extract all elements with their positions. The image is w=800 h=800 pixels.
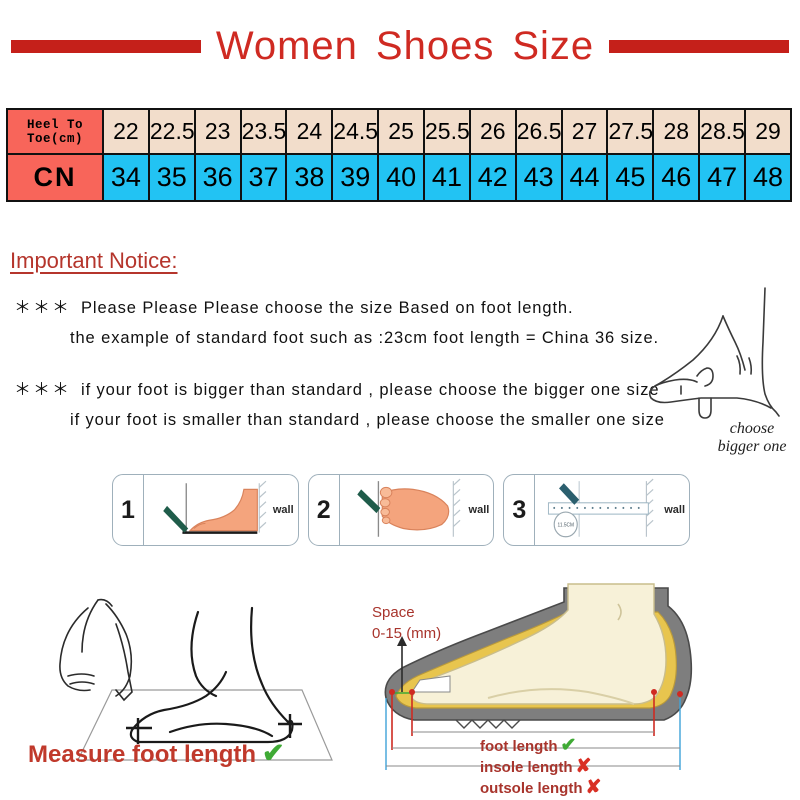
ruler-reading: 11.5CM	[558, 522, 574, 528]
measure-check-icon: ✔	[262, 738, 285, 768]
cell-cn-size-1: 35	[149, 154, 195, 201]
row-header-cn: CN	[7, 154, 103, 201]
cell-heel-to-toe-14: 29	[745, 109, 791, 154]
foot-art-caption-line1: choose	[692, 420, 800, 438]
step-illustration-2: wall	[340, 475, 494, 545]
size-conversion-table: Heel To Toe(cm) 2222.52323.52424.52525.5…	[6, 108, 792, 202]
table-row-heel-to-toe: Heel To Toe(cm) 2222.52323.52424.52525.5…	[7, 109, 791, 154]
step-illustration-1: wall	[144, 475, 298, 545]
measure-caption-text: Measure foot length	[28, 741, 256, 768]
notice-p2-line1: if your foot is bigger than standard , p…	[81, 381, 659, 399]
legend-foot-length-check-icon: ✔	[560, 735, 576, 756]
cell-cn-size-7: 41	[424, 154, 470, 201]
legend-foot-length-label: foot length	[480, 738, 557, 755]
title-text: WomenShoesSize	[201, 24, 609, 69]
cell-heel-to-toe-12: 28	[653, 109, 699, 154]
cell-heel-to-toe-11: 27.5	[607, 109, 653, 154]
cell-heel-to-toe-5: 24.5	[332, 109, 378, 154]
notice-stars-1: ＊＊＊	[14, 298, 71, 317]
step-number-1: 1	[113, 475, 144, 545]
wall-label-1: wall	[273, 504, 294, 516]
measure-steps: 1 wall 2	[112, 474, 690, 546]
cell-heel-to-toe-13: 28.5	[699, 109, 745, 154]
cell-heel-to-toe-4: 24	[286, 109, 332, 154]
step-box-1: 1 wall	[112, 474, 299, 546]
cell-heel-to-toe-7: 25.5	[424, 109, 470, 154]
cell-heel-to-toe-9: 26.5	[516, 109, 562, 154]
cell-cn-size-13: 47	[699, 154, 745, 201]
page-title: WomenShoesSize	[0, 18, 800, 74]
cell-cn-size-6: 40	[378, 154, 424, 201]
step-illustration-3: 11.5CM wall	[535, 475, 689, 545]
step-box-2: 2	[308, 474, 495, 546]
notice-paragraph-1: ＊＊＊Please Please Please choose the size …	[14, 293, 714, 353]
legend-insole-length: insole length✘	[480, 757, 750, 778]
cell-cn-size-0: 34	[103, 154, 149, 201]
shoe-legend: foot length✔ insole length✘ outsole leng…	[480, 736, 750, 799]
wall-label-2: wall	[469, 504, 490, 516]
cell-cn-size-3: 37	[241, 154, 287, 201]
cell-cn-size-11: 45	[607, 154, 653, 201]
cell-heel-to-toe-1: 22.5	[149, 109, 195, 154]
step-number-3: 3	[504, 475, 535, 545]
cell-heel-to-toe-6: 25	[378, 109, 424, 154]
row-header-heel-to-toe: Heel To Toe(cm)	[7, 109, 103, 154]
cell-cn-size-14: 48	[745, 154, 791, 201]
cell-cn-size-9: 43	[516, 154, 562, 201]
step-box-3: 3	[503, 474, 690, 546]
measure-caption: Measure foot length✔	[28, 738, 328, 769]
notice-paragraph-2: ＊＊＊if your foot is bigger than standard …	[14, 375, 714, 435]
legend-outsole-length: outsole length✘	[480, 778, 750, 799]
legend-insole-length-label: insole length	[480, 759, 573, 776]
cell-heel-to-toe-2: 23	[195, 109, 241, 154]
title-bar-left	[11, 40, 201, 53]
notice-p2-line2: if your foot is smaller than standard , …	[14, 405, 714, 435]
cell-cn-size-5: 39	[332, 154, 378, 201]
cell-heel-to-toe-3: 23.5	[241, 109, 287, 154]
notice-p1-line2: the example of standard foot such as :23…	[14, 323, 714, 353]
cell-cn-size-10: 44	[562, 154, 608, 201]
legend-outsole-length-cross-icon: ✘	[586, 777, 602, 798]
cell-heel-to-toe-10: 27	[562, 109, 608, 154]
size-table-wrap: Heel To Toe(cm) 2222.52323.52424.52525.5…	[6, 108, 792, 202]
legend-outsole-length-label: outsole length	[480, 780, 583, 797]
space-label: Space 0-15 (mm)	[372, 602, 441, 644]
wall-label-3: wall	[664, 504, 685, 516]
notice-stars-2: ＊＊＊	[14, 380, 71, 399]
cell-cn-size-12: 46	[653, 154, 699, 201]
notice-p1-line1: Please Please Please choose the size Bas…	[81, 299, 574, 317]
cell-cn-size-8: 42	[470, 154, 516, 201]
title-word-shoes: Shoes	[376, 24, 494, 68]
shoe-size-chart-page: WomenShoesSize Heel To Toe(cm) 2222.5232…	[0, 0, 800, 800]
cell-heel-to-toe-8: 26	[470, 109, 516, 154]
space-label-line2: 0-15 (mm)	[372, 623, 441, 644]
table-row-cn: CN 343536373839404142434445464748	[7, 154, 791, 201]
title-word-size: Size	[512, 24, 594, 68]
step-number-2: 2	[309, 475, 340, 545]
title-word-women: Women	[216, 24, 358, 68]
title-bar-right	[609, 40, 789, 53]
notice-body: ＊＊＊Please Please Please choose the size …	[14, 293, 714, 457]
foot-art-caption: choose bigger one	[692, 420, 800, 456]
notice-heading: Important Notice:	[10, 248, 178, 274]
foot-art-caption-line2: bigger one	[692, 438, 800, 456]
legend-foot-length: foot length✔	[480, 736, 750, 757]
cell-cn-size-2: 36	[195, 154, 241, 201]
space-label-line1: Space	[372, 602, 441, 623]
legend-insole-length-cross-icon: ✘	[576, 756, 592, 777]
cell-cn-size-4: 38	[286, 154, 332, 201]
cell-heel-to-toe-0: 22	[103, 109, 149, 154]
